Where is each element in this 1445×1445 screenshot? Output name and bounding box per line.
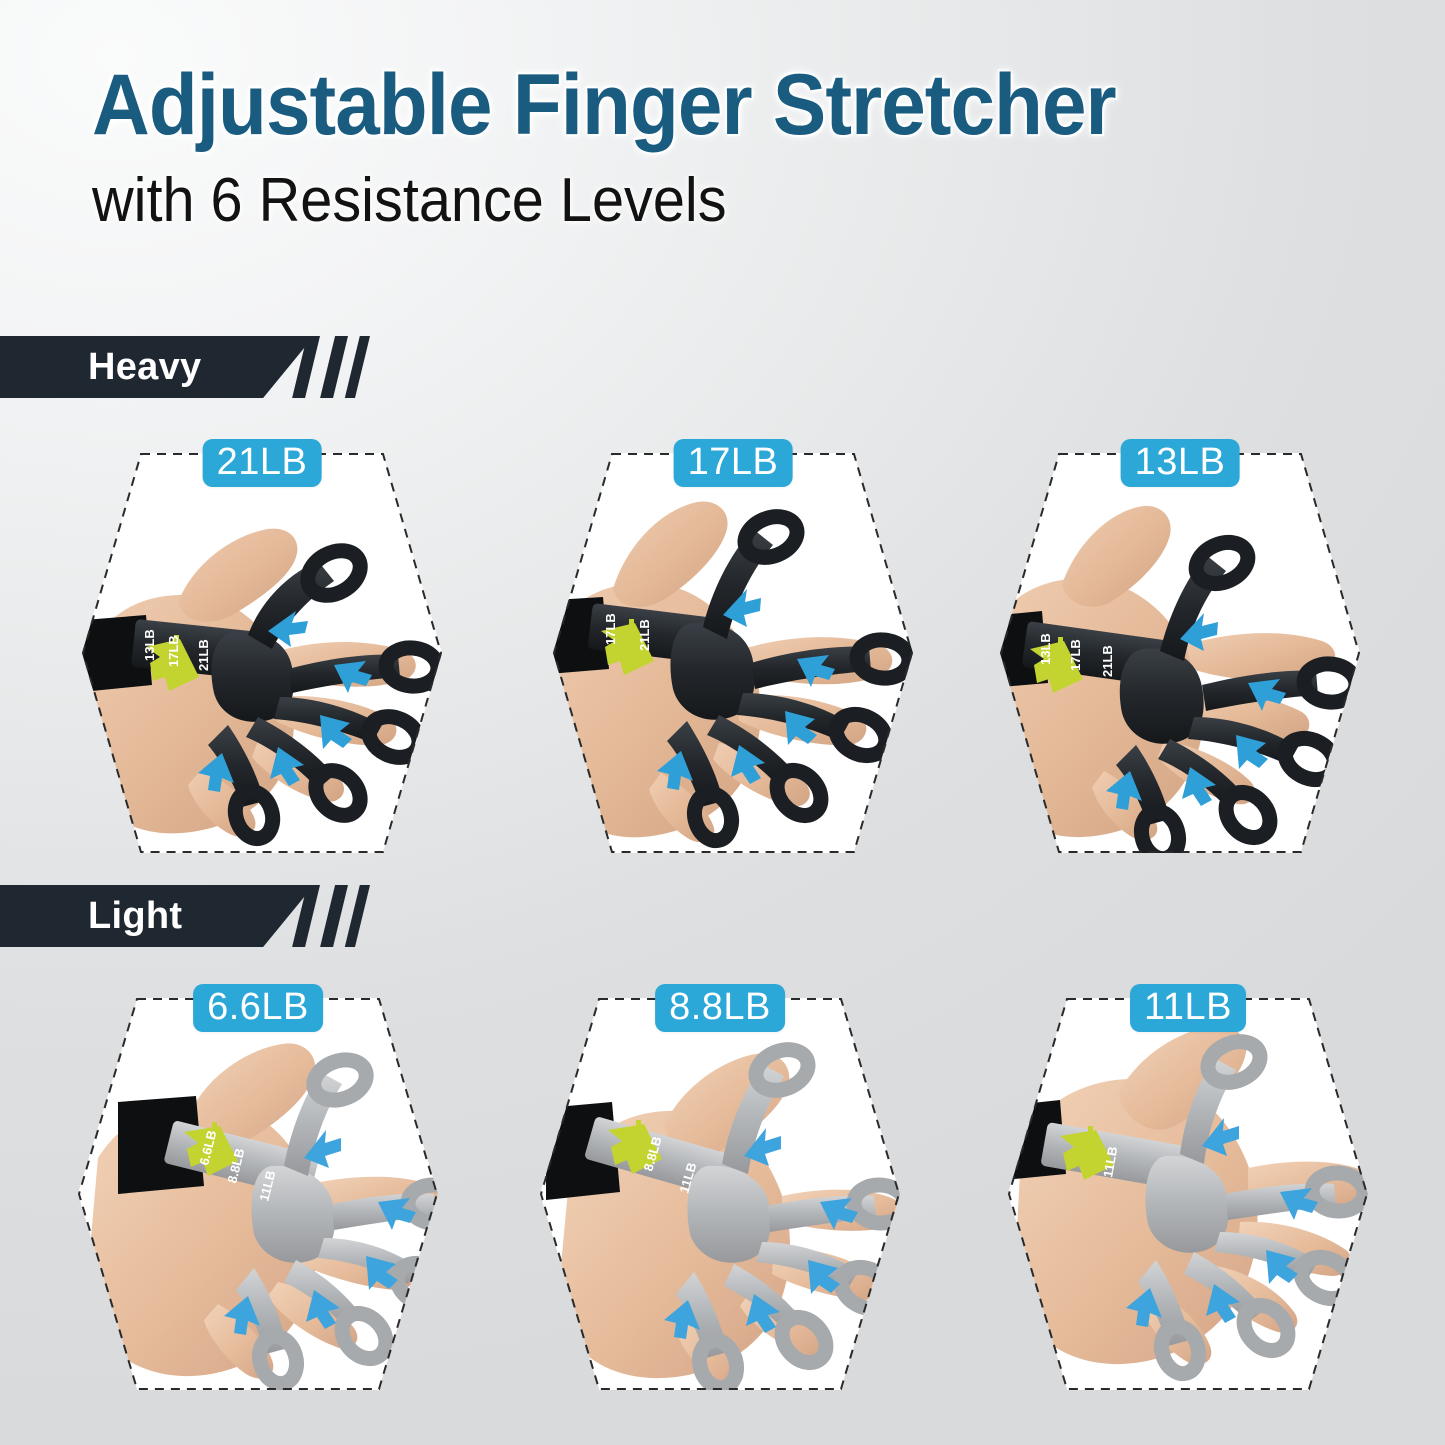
hexagon-dashed-icon: [78, 998, 438, 1390]
resistance-badge[interactable]: 6.6LB: [193, 984, 323, 1032]
banner-label-light: Light: [88, 885, 182, 947]
section-banner-light: Light: [0, 885, 360, 947]
resistance-badge[interactable]: 8.8LB: [655, 984, 785, 1032]
resistance-badge[interactable]: 17LB: [674, 439, 793, 487]
title-block: Adjustable Finger Stretcher with 6 Resis…: [92, 62, 1352, 232]
page-title: Adjustable Finger Stretcher: [92, 62, 1264, 148]
banner-stripe-2: [314, 336, 348, 398]
panel-heavy-17lb: 17LB 21LB 17LB: [553, 453, 913, 853]
resistance-badge[interactable]: 13LB: [1121, 439, 1240, 487]
page-subtitle: with 6 Resistance Levels: [92, 170, 1264, 232]
panel-light-66lb: 6.6LB 8.8LB 11LB 6.6LB: [78, 998, 438, 1390]
section-banner-heavy: Heavy: [0, 336, 360, 398]
hexagon-dashed-icon: [540, 998, 900, 1390]
resistance-badge[interactable]: 11LB: [1130, 984, 1246, 1032]
panel-light-11lb: 11LB 11LB: [1008, 998, 1368, 1390]
panel-heavy-13lb: 13LB 17LB 21LB 13LB: [1000, 453, 1360, 853]
resistance-badge[interactable]: 21LB: [203, 439, 322, 487]
panel-light-88lb: 8.8LB 11LB 8.8LB: [540, 998, 900, 1390]
infographic-canvas: Adjustable Finger Stretcher with 6 Resis…: [0, 0, 1445, 1445]
hexagon-dashed-icon: [1008, 998, 1368, 1390]
hexagon-dashed-icon: [1000, 453, 1360, 853]
banner-stripe-2: [314, 885, 348, 947]
banner-label-heavy: Heavy: [88, 336, 201, 398]
panel-heavy-21lb: 13LB 17LB 21LB 21LB: [82, 453, 442, 853]
hexagon-dashed-icon: [553, 453, 913, 853]
hexagon-dashed-icon: [82, 453, 442, 853]
